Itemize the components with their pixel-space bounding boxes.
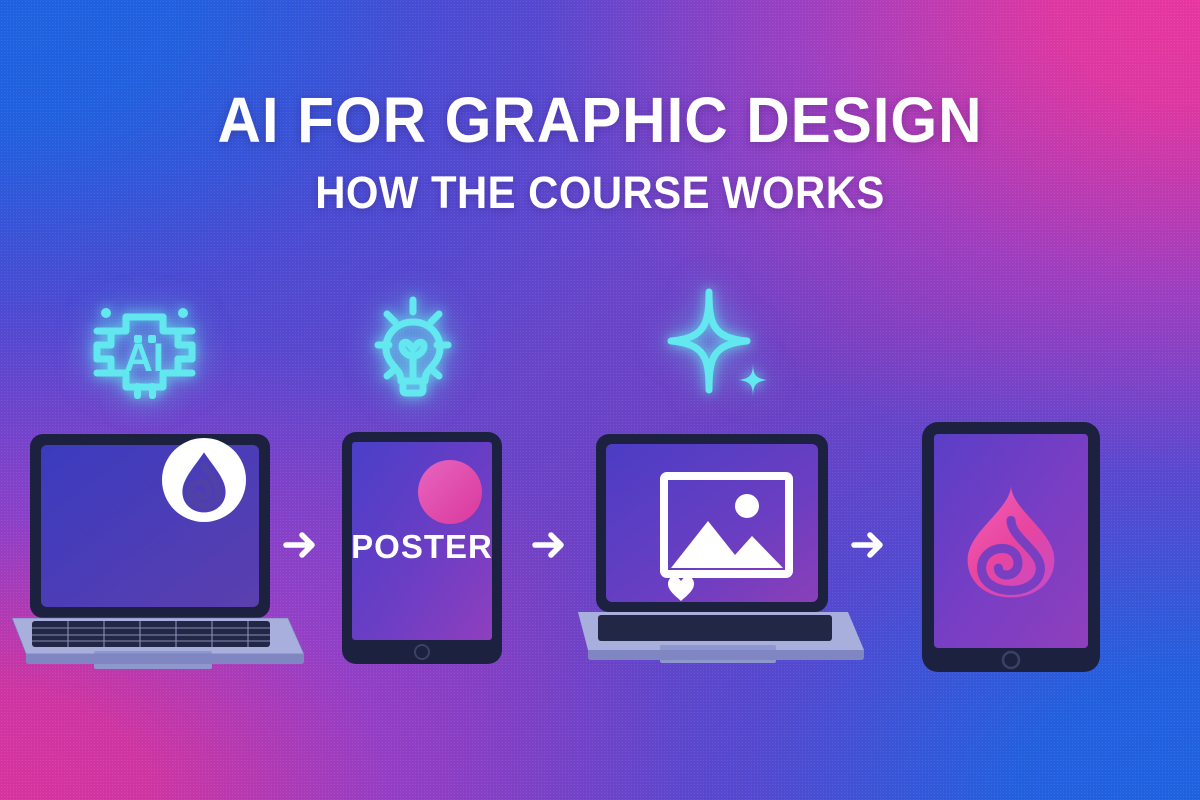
poster-canvas: AI FOR GRAPHIC DESIGN HOW THE COURSE WOR…	[0, 0, 1200, 800]
heading-block: AI FOR GRAPHIC DESIGN HOW THE COURSE WOR…	[0, 88, 1200, 215]
page-subtitle: HOW THE COURSE WORKS	[42, 170, 1158, 215]
arrow-connector-1	[278, 523, 322, 567]
laptop-keyboard	[598, 615, 832, 641]
step-tablet-poster[interactable]: POSTER	[340, 428, 508, 673]
arrow-connector-2	[527, 523, 571, 567]
step-laptop-image[interactable]	[572, 428, 872, 673]
step-laptop-app[interactable]	[8, 428, 313, 673]
arrow-right-icon	[854, 535, 880, 555]
step-tablet-brand[interactable]	[918, 418, 1108, 683]
arrow-right-icon	[535, 535, 561, 555]
poster-circle-accent	[418, 460, 482, 524]
laptop-base-edge	[588, 650, 864, 660]
poster-label: POSTER	[351, 528, 493, 565]
page-title: AI FOR GRAPHIC DESIGN	[36, 88, 1164, 152]
laptop-base-edge	[26, 654, 304, 664]
arrow-connector-3	[846, 523, 890, 567]
arrow-right-icon	[286, 535, 312, 555]
